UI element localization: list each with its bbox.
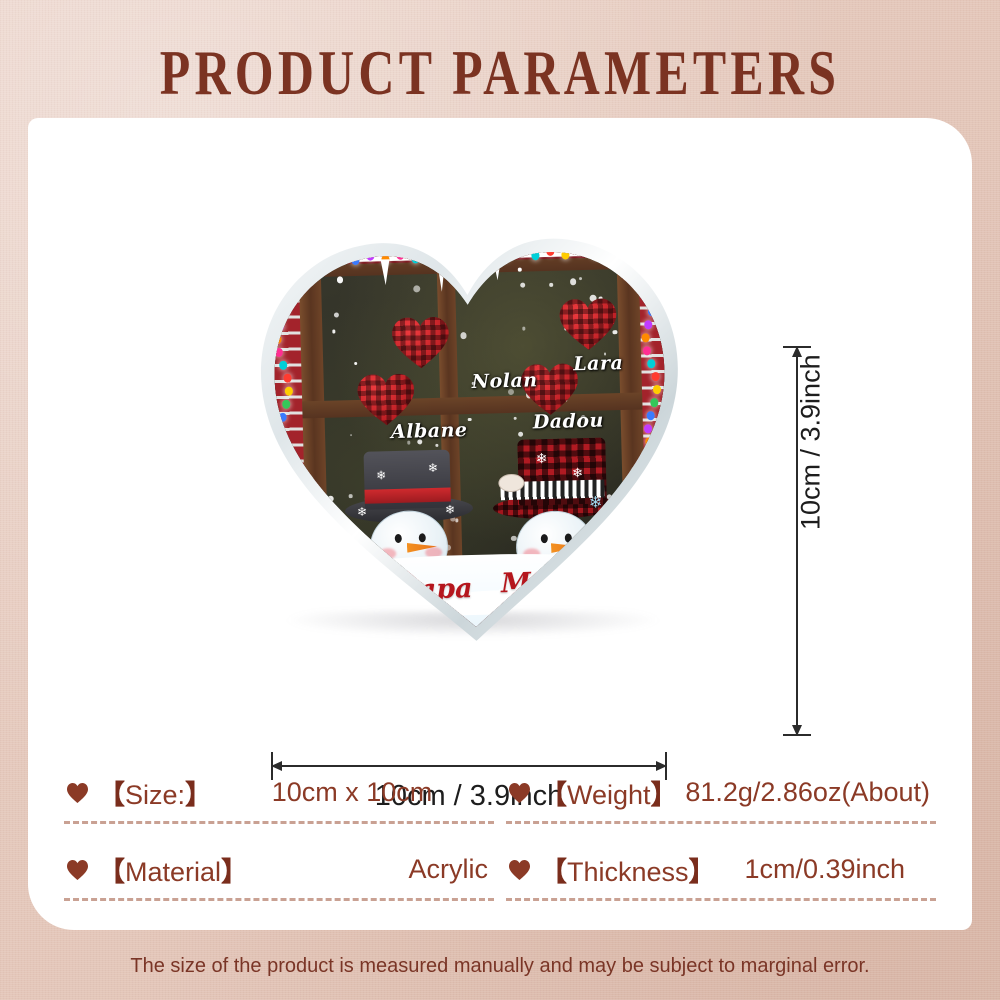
christmas-light-bulb	[621, 249, 629, 258]
spec-value-weight: 81.2g/2.86oz(About)	[678, 777, 934, 808]
eye-right-1	[541, 534, 548, 543]
dim-arrow-bottom	[792, 725, 802, 736]
heart-bullet-icon	[508, 782, 531, 803]
christmas-light-bulb	[649, 502, 657, 511]
spec-key-thickness: 【Thickness】	[540, 850, 716, 889]
bracket-close: 】	[651, 780, 678, 810]
christmas-light-bulb	[645, 268, 653, 277]
content-card: ❄ ❄ ❄ ❄	[28, 118, 972, 930]
arm-right-2	[587, 575, 632, 598]
heart-acrylic-plaque: ❄ ❄ ❄ ❄	[240, 215, 703, 647]
spec-key-text: Weight	[567, 780, 651, 810]
christmas-light-bulb	[651, 372, 659, 381]
heart-bullet-icon	[508, 859, 531, 880]
dimension-label-vertical: 10cm / 3.9inch	[796, 354, 827, 530]
spec-cell-size: 【Size:】 10cm x 10cm	[58, 773, 500, 824]
christmas-light-bulb	[654, 463, 662, 472]
spec-key-material: 【Material】	[98, 850, 248, 889]
hat-snowflake-left-3: ❄	[357, 506, 367, 518]
bracket-open: 【	[540, 857, 567, 887]
snow-flake	[549, 283, 553, 287]
spec-key-weight: 【Weight】	[540, 773, 678, 812]
hat-band-left	[365, 488, 451, 504]
christmas-light-bulb	[306, 253, 314, 262]
christmas-light-bulb	[655, 476, 663, 485]
snow-flake	[613, 330, 617, 334]
spec-key-text: Size:	[125, 780, 185, 810]
child-name-dadou: Dadou	[533, 410, 605, 434]
spec-key-text: Material	[125, 857, 221, 887]
snow-flake	[413, 285, 420, 292]
bracket-close: 】	[221, 857, 248, 887]
hat-snowflake-right-2: ❄	[572, 466, 583, 479]
child-name-nolan: Nolan	[471, 369, 537, 393]
snow-hump-1	[289, 589, 380, 617]
christmas-light-bulb	[456, 249, 464, 258]
hat-snowflake-left-1: ❄	[376, 469, 386, 481]
dim-arrow-right	[656, 761, 667, 771]
spec-value-size: 10cm x 10cm	[212, 777, 492, 808]
christmas-light-bulb	[441, 254, 449, 263]
spec-key-text: Thickness	[567, 857, 689, 887]
bracket-open: 【	[540, 780, 567, 810]
christmas-light-bulb	[648, 528, 656, 537]
spec-value-material: Acrylic	[248, 854, 492, 885]
dimension-line-horizontal	[271, 765, 667, 767]
christmas-light-bulb	[644, 320, 652, 329]
snow-flake	[522, 327, 525, 330]
spec-row: 【Size:】 10cm x 10cm 【Weight】 81.2g/2.86o…	[58, 773, 942, 824]
hat-snowflake-left-4: ❄	[445, 503, 455, 515]
dim-arrow-left	[271, 761, 282, 771]
snow-flake	[518, 431, 523, 436]
snow-flake	[337, 276, 344, 283]
hat-snowflake-left-2: ❄	[428, 462, 438, 474]
christmas-light-bulb	[277, 270, 285, 279]
bracket-close: 】	[185, 780, 212, 810]
snow-flake	[514, 416, 517, 419]
product-image-stage: ❄ ❄ ❄ ❄	[223, 213, 743, 683]
bracket-open: 【	[98, 780, 125, 810]
heart-bullet-icon	[66, 782, 89, 803]
christmas-light-bulb	[287, 478, 295, 487]
christmas-light-bulb	[278, 517, 286, 526]
snow-hump-3	[569, 584, 666, 609]
spec-value-thickness: 1cm/0.39inch	[716, 854, 934, 885]
christmas-light-bulb	[471, 253, 479, 262]
christmas-light-bulb	[646, 515, 654, 524]
eye-left-1	[395, 534, 402, 543]
christmas-light-bulb	[283, 374, 291, 383]
child-name-albane: Albane	[391, 419, 468, 443]
spec-cell-weight: 【Weight】 81.2g/2.86oz(About)	[500, 773, 942, 824]
spec-key-size: 【Size:】	[98, 773, 212, 812]
spec-row: 【Material】 Acrylic 【Thickness】 1cm/0.39i…	[58, 850, 942, 901]
christmas-light-bulb	[284, 491, 292, 500]
spec-table: 【Size:】 10cm x 10cm 【Weight】 81.2g/2.86o…	[58, 773, 942, 901]
christmas-light-bulb	[280, 530, 288, 539]
christmas-light-bulb	[280, 504, 288, 513]
page-title: PRODUCT PARAMETERS	[110, 36, 890, 110]
arm-left-1	[339, 577, 380, 600]
bracket-open: 【	[98, 857, 125, 887]
child-name-lara: Lara	[573, 352, 624, 375]
snow-flake	[324, 516, 331, 523]
spec-cell-thickness: 【Thickness】 1cm/0.39inch	[500, 850, 942, 901]
falling-snow	[240, 215, 692, 227]
christmas-light-bulb	[652, 541, 660, 550]
spec-cell-material: 【Material】 Acrylic	[58, 850, 500, 901]
footer-note: The size of the product is measured manu…	[0, 955, 1000, 978]
snow-flake	[600, 535, 605, 540]
hat-snowflake-right-1: ❄	[536, 451, 548, 465]
christmas-light-bulb	[284, 543, 292, 552]
christmas-light-bulb	[486, 248, 494, 257]
christmas-light-bulb	[646, 411, 654, 420]
eye-left-2	[419, 533, 426, 542]
christmas-light-bulb	[285, 387, 293, 396]
snow-flake	[468, 418, 472, 422]
heart-bullet-icon	[66, 859, 89, 880]
christmas-light-bulb	[281, 283, 289, 292]
christmas-light-bulb	[653, 489, 661, 498]
bracket-close: 】	[689, 857, 716, 887]
snow-flake	[334, 553, 336, 555]
christmas-light-bulb	[653, 385, 661, 394]
